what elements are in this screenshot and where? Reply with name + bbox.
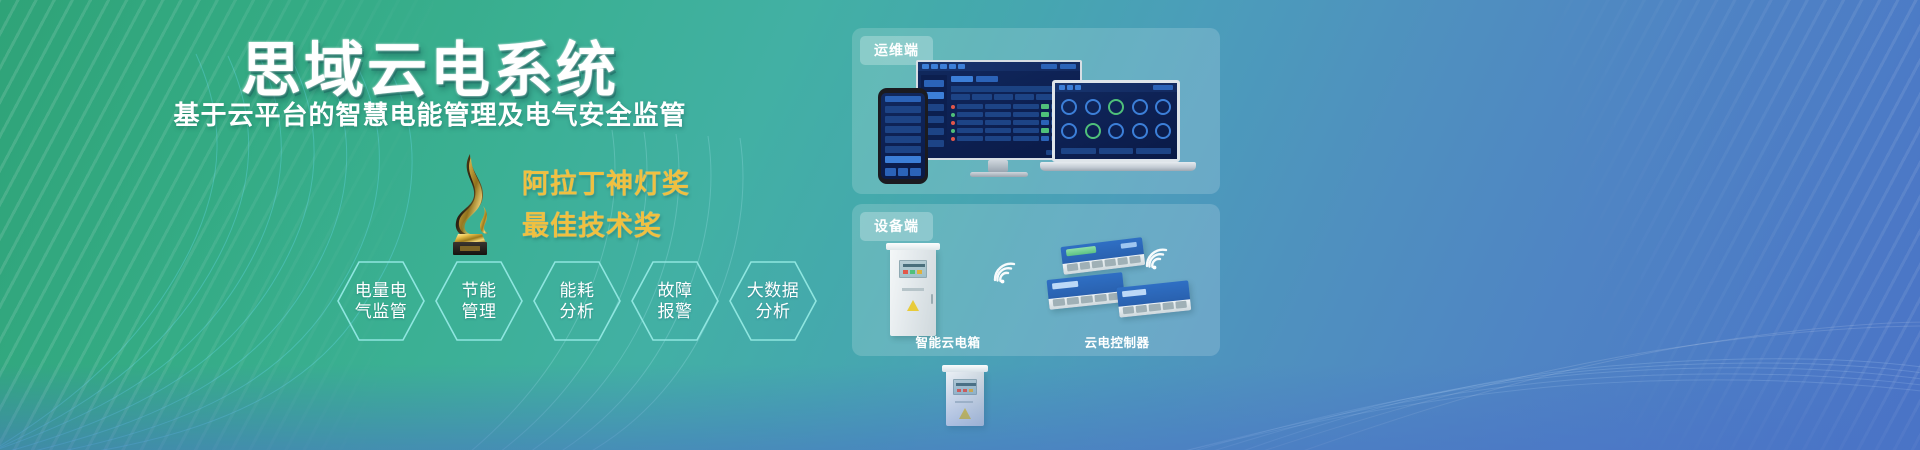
ops-panel: 运维端 — [852, 28, 1220, 194]
device-panel: 设备端 — [852, 204, 1220, 356]
feature-hexagon-2-label: 节能 管理 — [462, 280, 497, 322]
feature-5-line-2: 分析 — [747, 301, 800, 322]
feature-hexagon-1-label: 电量电 气监管 — [355, 280, 408, 322]
right-showcase-column: 运维端 — [852, 14, 1224, 438]
laptop-mockup — [1040, 80, 1196, 176]
device-caption-1: 智能云电箱 — [878, 332, 1018, 351]
device-caption-2: 云电控制器 — [1042, 332, 1192, 351]
feature-hexagon-4-label: 故障 报警 — [658, 280, 693, 322]
promo-banner: 思域云电系统 基于云平台的智慧电能管理及电气安全监管 — [0, 0, 1920, 450]
diagonal-stripes-right-decoration — [1360, 0, 1920, 450]
controller-module-icon-3 — [1117, 280, 1192, 319]
wifi-signal-icon-2 — [1144, 248, 1170, 270]
award-text-block: 阿拉丁神灯奖 最佳技术奖 — [522, 162, 690, 243]
feature-hexagon-5-label: 大数据 分析 — [747, 280, 800, 322]
feature-hexagon-2[interactable]: 节能 管理 — [434, 259, 524, 343]
award-block: 阿拉丁神灯奖 最佳技术奖 — [430, 148, 850, 256]
trophy-icon — [430, 148, 506, 256]
phone-mockup — [878, 88, 928, 184]
controller-module-icon-2 — [1047, 272, 1126, 312]
feature-5-line-1: 大数据 — [747, 280, 800, 301]
feature-hexagon-4[interactable]: 故障 报警 — [630, 259, 720, 343]
device-panel-tag: 设备端 — [860, 212, 933, 241]
page-subtitle: 基于云平台的智慧电能管理及电气安全监管 — [0, 95, 860, 132]
feature-3-line-1: 能耗 — [560, 280, 595, 301]
feature-2-line-1: 节能 — [462, 280, 497, 301]
controller-module-icon — [1060, 237, 1145, 277]
wifi-signal-icon — [992, 262, 1018, 284]
feature-hexagon-3[interactable]: 能耗 分析 — [532, 259, 622, 343]
feature-hexagon-row: 电量电 气监管 节能 管理 能耗 分析 — [336, 259, 818, 343]
left-content-column: 思域云电系统 基于云平台的智慧电能管理及电气安全监管 — [0, 0, 860, 450]
award-line-2: 最佳技术奖 — [522, 204, 690, 243]
feature-2-line-2: 管理 — [462, 301, 497, 322]
feature-3-line-2: 分析 — [560, 301, 595, 322]
feature-hexagon-1[interactable]: 电量电 气监管 — [336, 259, 426, 343]
electrical-cabinet-small-icon — [946, 370, 984, 426]
feature-1-line-1: 电量电 — [355, 280, 408, 301]
feature-4-line-2: 报警 — [658, 301, 693, 322]
feature-hexagon-5[interactable]: 大数据 分析 — [728, 259, 818, 343]
feature-hexagon-3-label: 能耗 分析 — [560, 280, 595, 322]
feature-1-line-2: 气监管 — [355, 301, 408, 322]
feature-4-line-1: 故障 — [658, 280, 693, 301]
electrical-cabinet-icon — [890, 248, 936, 336]
award-line-1: 阿拉丁神灯奖 — [522, 162, 690, 201]
